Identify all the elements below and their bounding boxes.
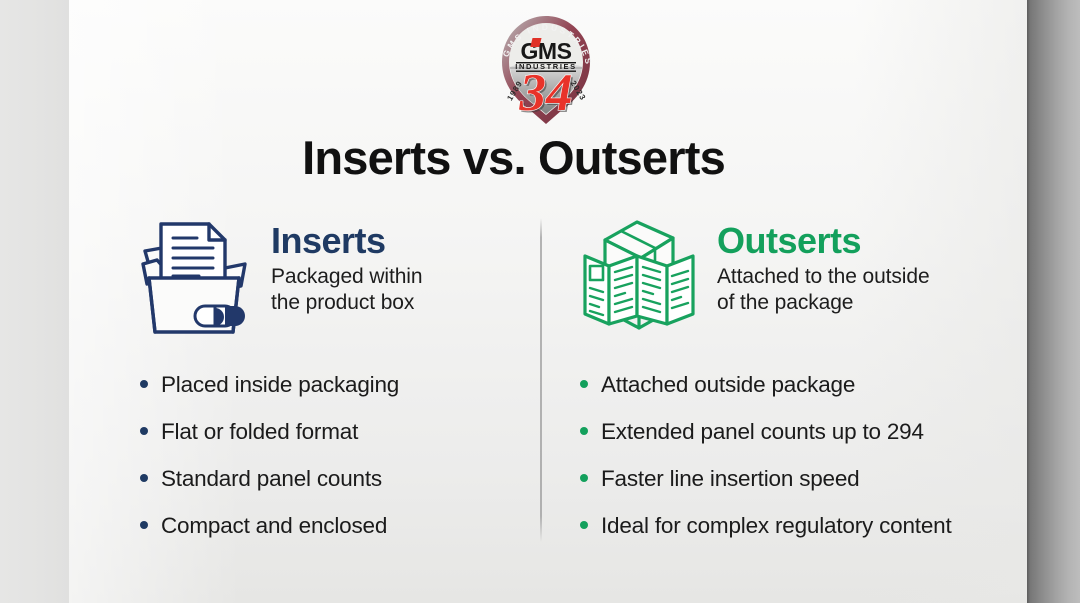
bullet-dot-icon (580, 427, 588, 435)
column-inserts: Inserts Packaged within the product box (133, 216, 533, 348)
list-item: Placed inside packaging (140, 374, 540, 421)
bullet-label: Faster line insertion speed (601, 468, 860, 491)
open-box-with-document-icon (133, 216, 255, 342)
bullet-dot-icon (140, 474, 148, 482)
inserts-subtitle-line-1: Packaged within (271, 264, 422, 290)
bullet-dot-icon (580, 521, 588, 529)
bullet-dot-icon (140, 380, 148, 388)
outserts-heading-text: Outserts Attached to the outside of the … (717, 216, 930, 315)
bullet-dot-icon (580, 474, 588, 482)
list-item: Standard panel counts (140, 468, 540, 515)
bullet-dot-icon (140, 427, 148, 435)
outserts-subtitle: Attached to the outside of the package (717, 264, 930, 316)
column-divider (540, 218, 542, 542)
list-item: Extended panel counts up to 294 (580, 421, 1030, 468)
bullet-label: Standard panel counts (161, 468, 382, 491)
list-item: Ideal for complex regulatory content (580, 515, 1030, 562)
svg-text:GMS: GMS (521, 38, 572, 64)
inserts-heading-text: Inserts Packaged within the product box (271, 216, 422, 315)
outserts-bullet-list: Attached outside package Extended panel … (580, 374, 1030, 562)
outserts-subtitle-line-1: Attached to the outside (717, 264, 930, 290)
list-item: Faster line insertion speed (580, 468, 1030, 515)
bullet-dot-icon (140, 521, 148, 529)
bullet-label: Extended panel counts up to 294 (601, 421, 924, 444)
bullet-label: Ideal for complex regulatory content (601, 515, 952, 538)
gms-industries-logo: GMS INDUSTRIES GMS INDUSTRIES 1989 2023 … (492, 12, 600, 128)
inserts-subtitle: Packaged within the product box (271, 264, 422, 316)
inserts-bullet-list: Placed inside packaging Flat or folded f… (140, 374, 540, 562)
bullet-label: Compact and enclosed (161, 515, 387, 538)
bullet-label: Placed inside packaging (161, 374, 399, 397)
list-item: Flat or folded format (140, 421, 540, 468)
infographic-slide: GMS INDUSTRIES GMS INDUSTRIES 1989 2023 … (0, 0, 1080, 603)
background-right-edge-shadow (1027, 0, 1080, 603)
outserts-heading: Outserts (717, 222, 930, 260)
background-left-strip (0, 0, 69, 603)
bullet-label: Flat or folded format (161, 421, 358, 444)
bullet-label: Attached outside package (601, 374, 855, 397)
outserts-subtitle-line-2: of the package (717, 290, 930, 316)
inserts-header: Inserts Packaged within the product box (133, 216, 533, 348)
bullet-dot-icon (580, 380, 588, 388)
outserts-header: Outserts Attached to the outside of the … (575, 216, 1027, 348)
column-outserts: Outserts Attached to the outside of the … (575, 216, 1027, 348)
box-with-folded-leaflet-icon (575, 216, 701, 342)
slide-title: Inserts vs. Outserts (0, 134, 1027, 181)
inserts-heading: Inserts (271, 222, 422, 260)
list-item: Compact and enclosed (140, 515, 540, 562)
inserts-subtitle-line-2: the product box (271, 290, 422, 316)
svg-text:34: 34 (519, 64, 573, 122)
list-item: Attached outside package (580, 374, 1030, 421)
